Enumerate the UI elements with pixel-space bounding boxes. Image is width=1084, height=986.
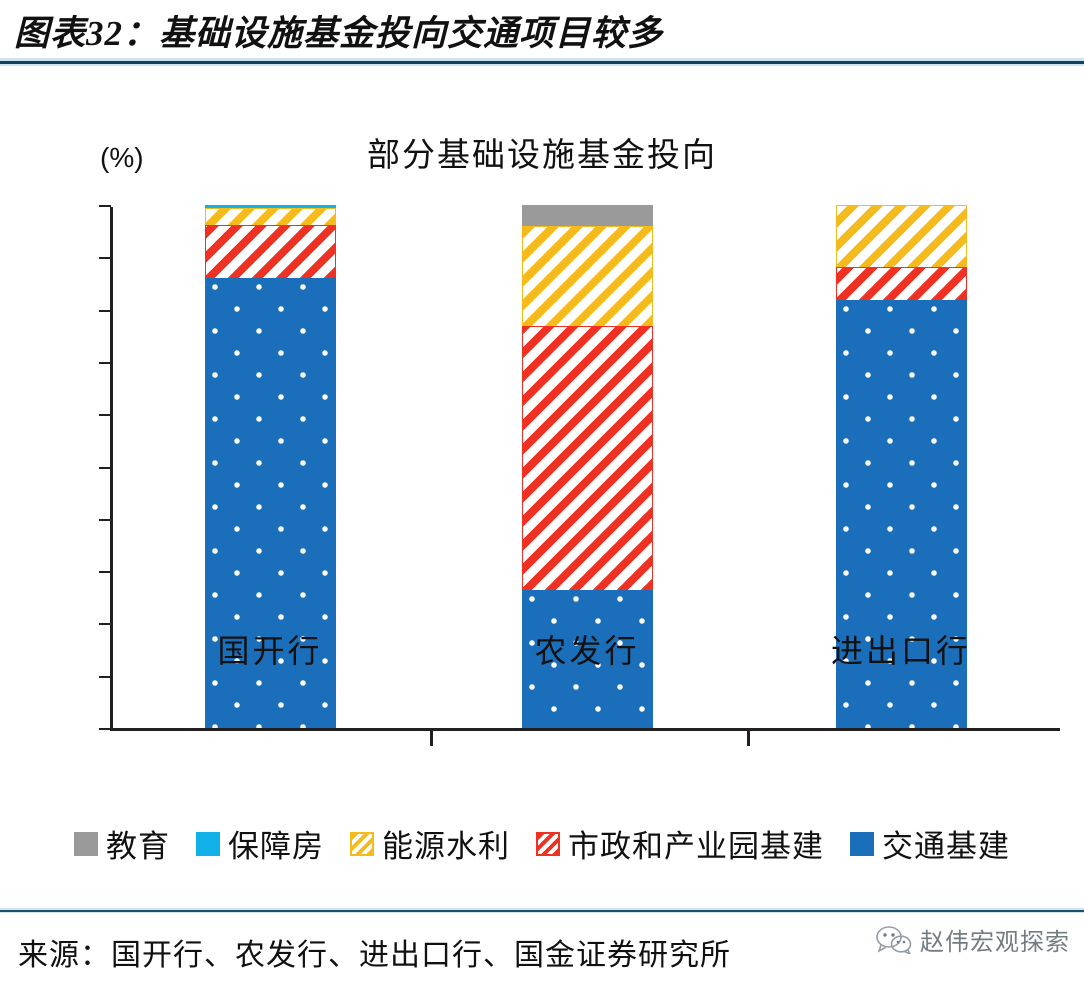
figure-title: 图表32：基础设施基金投向交通项目较多 xyxy=(14,5,663,56)
x-axis-tick xyxy=(430,730,433,746)
x-axis-label: 进出口行 xyxy=(781,626,1021,672)
y-axis-tick xyxy=(99,519,111,521)
legend-label: 教育 xyxy=(106,821,170,866)
y-axis-tick xyxy=(99,728,111,730)
chart-container: 部分基础设施基金投向 (%) 0102030405060708090100 国开… xyxy=(0,66,1084,894)
source-note: 来源：国开行、农发行、进出口行、国金证券研究所 xyxy=(18,930,731,974)
legend-label: 交通基建 xyxy=(882,821,1010,866)
x-axis-label: 国开行 xyxy=(150,626,390,672)
y-axis-tick xyxy=(99,623,111,625)
wechat-icon xyxy=(876,926,912,954)
watermark: 赵伟宏观探索 xyxy=(876,922,1070,957)
legend-swatch-icon xyxy=(74,832,98,856)
x-axis-label: 农发行 xyxy=(467,626,707,672)
x-axis-line xyxy=(110,728,1060,731)
bar-segment[interactable] xyxy=(522,326,653,590)
y-axis-tick xyxy=(99,257,111,259)
x-axis-tick xyxy=(747,730,750,746)
figure-header: 图表32：基础设施基金投向交通项目较多 xyxy=(0,0,1084,60)
legend-item[interactable]: 能源水利 xyxy=(350,821,510,866)
legend-swatch-icon xyxy=(196,832,220,856)
bar-segment[interactable] xyxy=(836,267,967,300)
legend-swatch-icon xyxy=(850,832,874,856)
header-rule-dark xyxy=(0,61,1084,64)
legend-item[interactable]: 市政和产业园基建 xyxy=(536,821,824,866)
legend-item[interactable]: 教育 xyxy=(74,821,170,866)
legend-swatch-icon xyxy=(536,832,560,856)
y-axis-tick xyxy=(99,310,111,312)
bar-segment[interactable] xyxy=(522,226,653,326)
bar-segment[interactable] xyxy=(836,205,967,267)
y-axis-tick xyxy=(99,362,111,364)
y-axis-tick xyxy=(99,205,111,207)
y-axis-line xyxy=(110,207,113,730)
legend-item[interactable]: 保障房 xyxy=(196,821,324,866)
chart-title: 部分基础设施基金投向 xyxy=(0,128,1084,176)
legend-swatch-icon xyxy=(350,832,374,856)
legend-label: 保障房 xyxy=(228,821,324,866)
bar-segment[interactable] xyxy=(522,205,653,226)
y-axis-unit-label: (%) xyxy=(100,142,144,174)
bar-segment[interactable] xyxy=(205,208,336,225)
watermark-text: 赵伟宏观探索 xyxy=(920,922,1070,957)
y-axis-tick xyxy=(99,414,111,416)
bar-segment[interactable] xyxy=(205,225,336,278)
legend-item[interactable]: 交通基建 xyxy=(850,821,1010,866)
footer-rule-dark xyxy=(0,910,1084,912)
y-axis-tick xyxy=(99,571,111,573)
legend-label: 市政和产业园基建 xyxy=(568,821,824,866)
legend-label: 能源水利 xyxy=(382,821,510,866)
y-axis-tick xyxy=(99,467,111,469)
y-axis-tick xyxy=(99,676,111,678)
chart-legend: 教育保障房能源水利市政和产业园基建交通基建 xyxy=(0,821,1084,866)
